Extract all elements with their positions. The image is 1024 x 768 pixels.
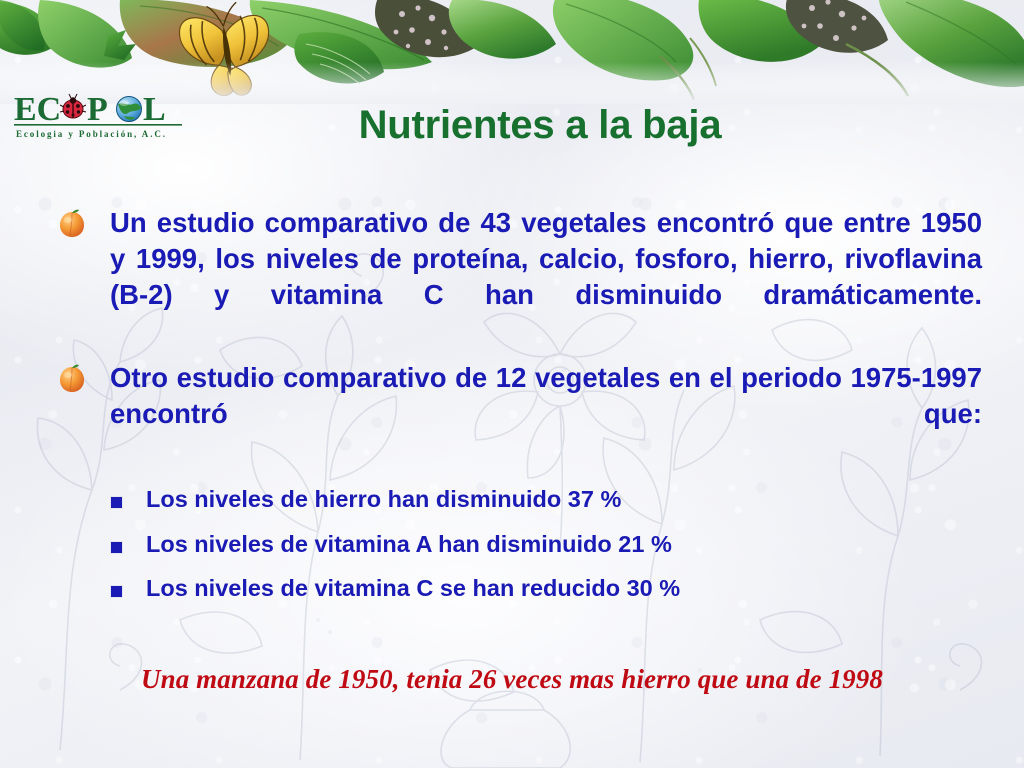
bullet-text: Un estudio comparativo de 43 vegetales e… bbox=[110, 205, 982, 348]
sub-bullet-list: Los niveles de hierro han disminuido 37 … bbox=[108, 488, 948, 601]
sub-bullet-text: Los niveles de vitamina A han disminuido… bbox=[146, 531, 672, 557]
bullet-item: Un estudio comparativo de 43 vegetales e… bbox=[52, 205, 982, 348]
bullet-text: Otro estudio comparativo de 12 vegetales… bbox=[110, 360, 982, 467]
footnote-text: Una manzana de 1950, tenia 26 veces mas … bbox=[0, 664, 1024, 695]
square-bullet-icon bbox=[110, 585, 123, 598]
sub-bullet-item: Los niveles de vitamina C se han reducid… bbox=[108, 577, 948, 601]
logo-wordmark-p: P bbox=[87, 91, 108, 128]
logo-wordmark-l: L bbox=[143, 91, 166, 128]
ecopol-logo: EC P bbox=[12, 86, 192, 142]
sub-bullet-item: Los niveles de vitamina A han disminuido… bbox=[108, 533, 948, 557]
square-bullet-icon bbox=[110, 541, 123, 554]
sub-bullet-text: Los niveles de hierro han disminuido 37 … bbox=[146, 486, 621, 512]
bullet-item: Otro estudio comparativo de 12 vegetales… bbox=[52, 360, 982, 467]
bullet-list: Un estudio comparativo de 43 vegetales e… bbox=[52, 205, 982, 467]
logo-tagline: Ecologia y Población, A.C. bbox=[16, 129, 167, 139]
logo-wordmark-ec: EC bbox=[14, 91, 61, 128]
peach-bullet-icon bbox=[58, 208, 86, 238]
sub-bullet-text: Los niveles de vitamina C se han reducid… bbox=[146, 575, 680, 601]
globe-icon bbox=[117, 97, 142, 122]
square-bullet-icon bbox=[110, 496, 123, 509]
sub-bullet-item: Los niveles de hierro han disminuido 37 … bbox=[108, 488, 948, 512]
slide-title: Nutrientes a la baja bbox=[190, 104, 890, 146]
ladybug-icon bbox=[60, 94, 86, 118]
presentation-slide: EC P bbox=[0, 0, 1024, 768]
peach-bullet-icon bbox=[58, 363, 86, 393]
